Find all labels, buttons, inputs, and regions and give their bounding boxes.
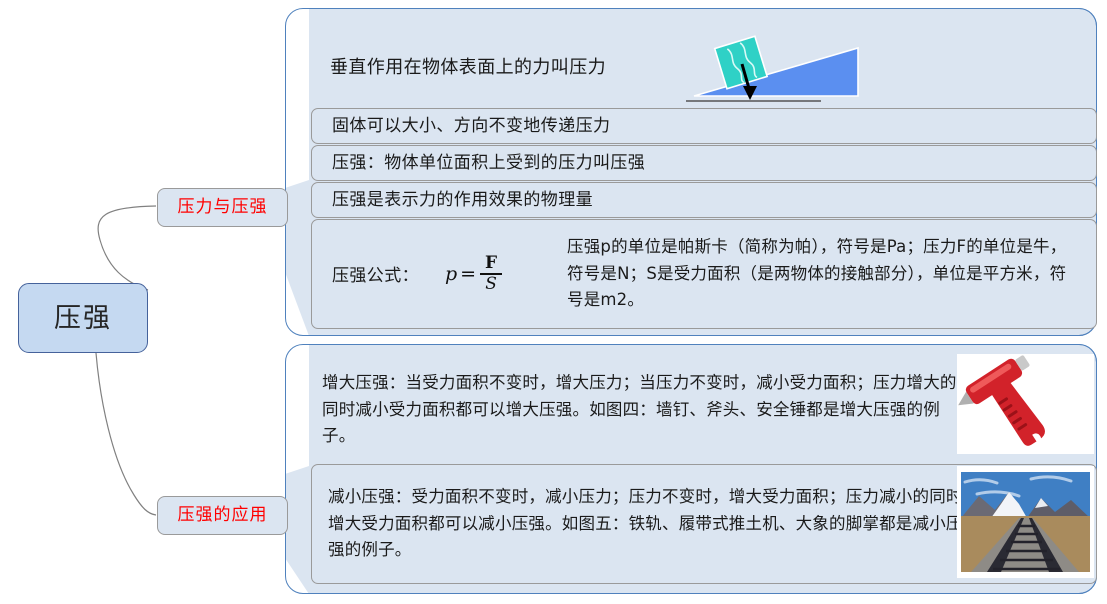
- formula-label: 压强公式：: [332, 261, 419, 286]
- branch-label-pressure-applications[interactable]: 压强的应用: [157, 496, 288, 535]
- connector-root-to-pressure-force: [98, 206, 156, 290]
- railway-track-figure: [957, 466, 1094, 578]
- row-pressure-physical-quantity-text: 压强是表示力的作用效果的物理量: [332, 187, 593, 213]
- row-pressure-definition-text: 垂直作用在物体表面上的力叫压力: [330, 54, 606, 82]
- branch-label-pressure-force[interactable]: 压力与压强: [157, 188, 288, 227]
- formula-denominator: S: [481, 275, 501, 293]
- formula-fraction: F S: [480, 255, 502, 292]
- row-solid-transmit: 固体可以大小、方向不变地传递压力: [311, 108, 1097, 144]
- inclined-plane-figure: [686, 22, 866, 106]
- formula-variable: p: [445, 263, 457, 285]
- root-node[interactable]: 压强: [18, 283, 148, 353]
- formula-equals: =: [460, 263, 476, 285]
- branch-label-pressure-force-text: 压力与压强: [178, 199, 268, 216]
- row-pressure-meaning-text: 压强：物体单位面积上受到的压力叫压强: [332, 150, 645, 176]
- formula-numerator: F: [481, 255, 501, 273]
- row-pressure-physical-quantity: 压强是表示力的作用效果的物理量: [311, 182, 1097, 218]
- connector-root-to-pressure-apps: [96, 353, 156, 515]
- mindmap-canvas: 压强 压力与压强 垂直作用在物体表面上的力叫压力 固体可以大小、方向不变地传递压…: [0, 0, 1107, 604]
- row-increase-pressure-text: 增大压强：当受力面积不变时，增大压力；当压力不变时，减小受力面积；压力增大的同时…: [322, 370, 958, 450]
- formula-units-note: 压强p的单位是帕斯卡（简称为帕），符号是Pa；压力F的单位是牛，符号是N；S是受…: [567, 234, 1096, 314]
- safety-hammer-figure: [957, 354, 1094, 454]
- row-solid-transmit-text: 固体可以大小、方向不变地传递压力: [332, 113, 610, 139]
- row-pressure-meaning: 压强：物体单位面积上受到的压力叫压强: [311, 145, 1097, 181]
- row-decrease-pressure-text: 减小压强：受力面积不变时，减小压力；压力不变时，增大受力面积；压力减小的同时增大…: [328, 484, 964, 564]
- row-pressure-formula: 压强公式： p = F S 压强p的单位是帕斯卡（简称为帕），符号是Pa；压力F…: [311, 219, 1097, 329]
- formula-expression: p = F S: [445, 255, 502, 292]
- root-node-label: 压强: [54, 305, 112, 332]
- formula-wrapper: 压强公式： p = F S 压强p的单位是帕斯卡（简称为帕），符号是Pa；压力F…: [332, 234, 1096, 314]
- branch-label-pressure-applications-text: 压强的应用: [178, 507, 268, 524]
- formula-left-group: 压强公式： p = F S: [332, 255, 567, 292]
